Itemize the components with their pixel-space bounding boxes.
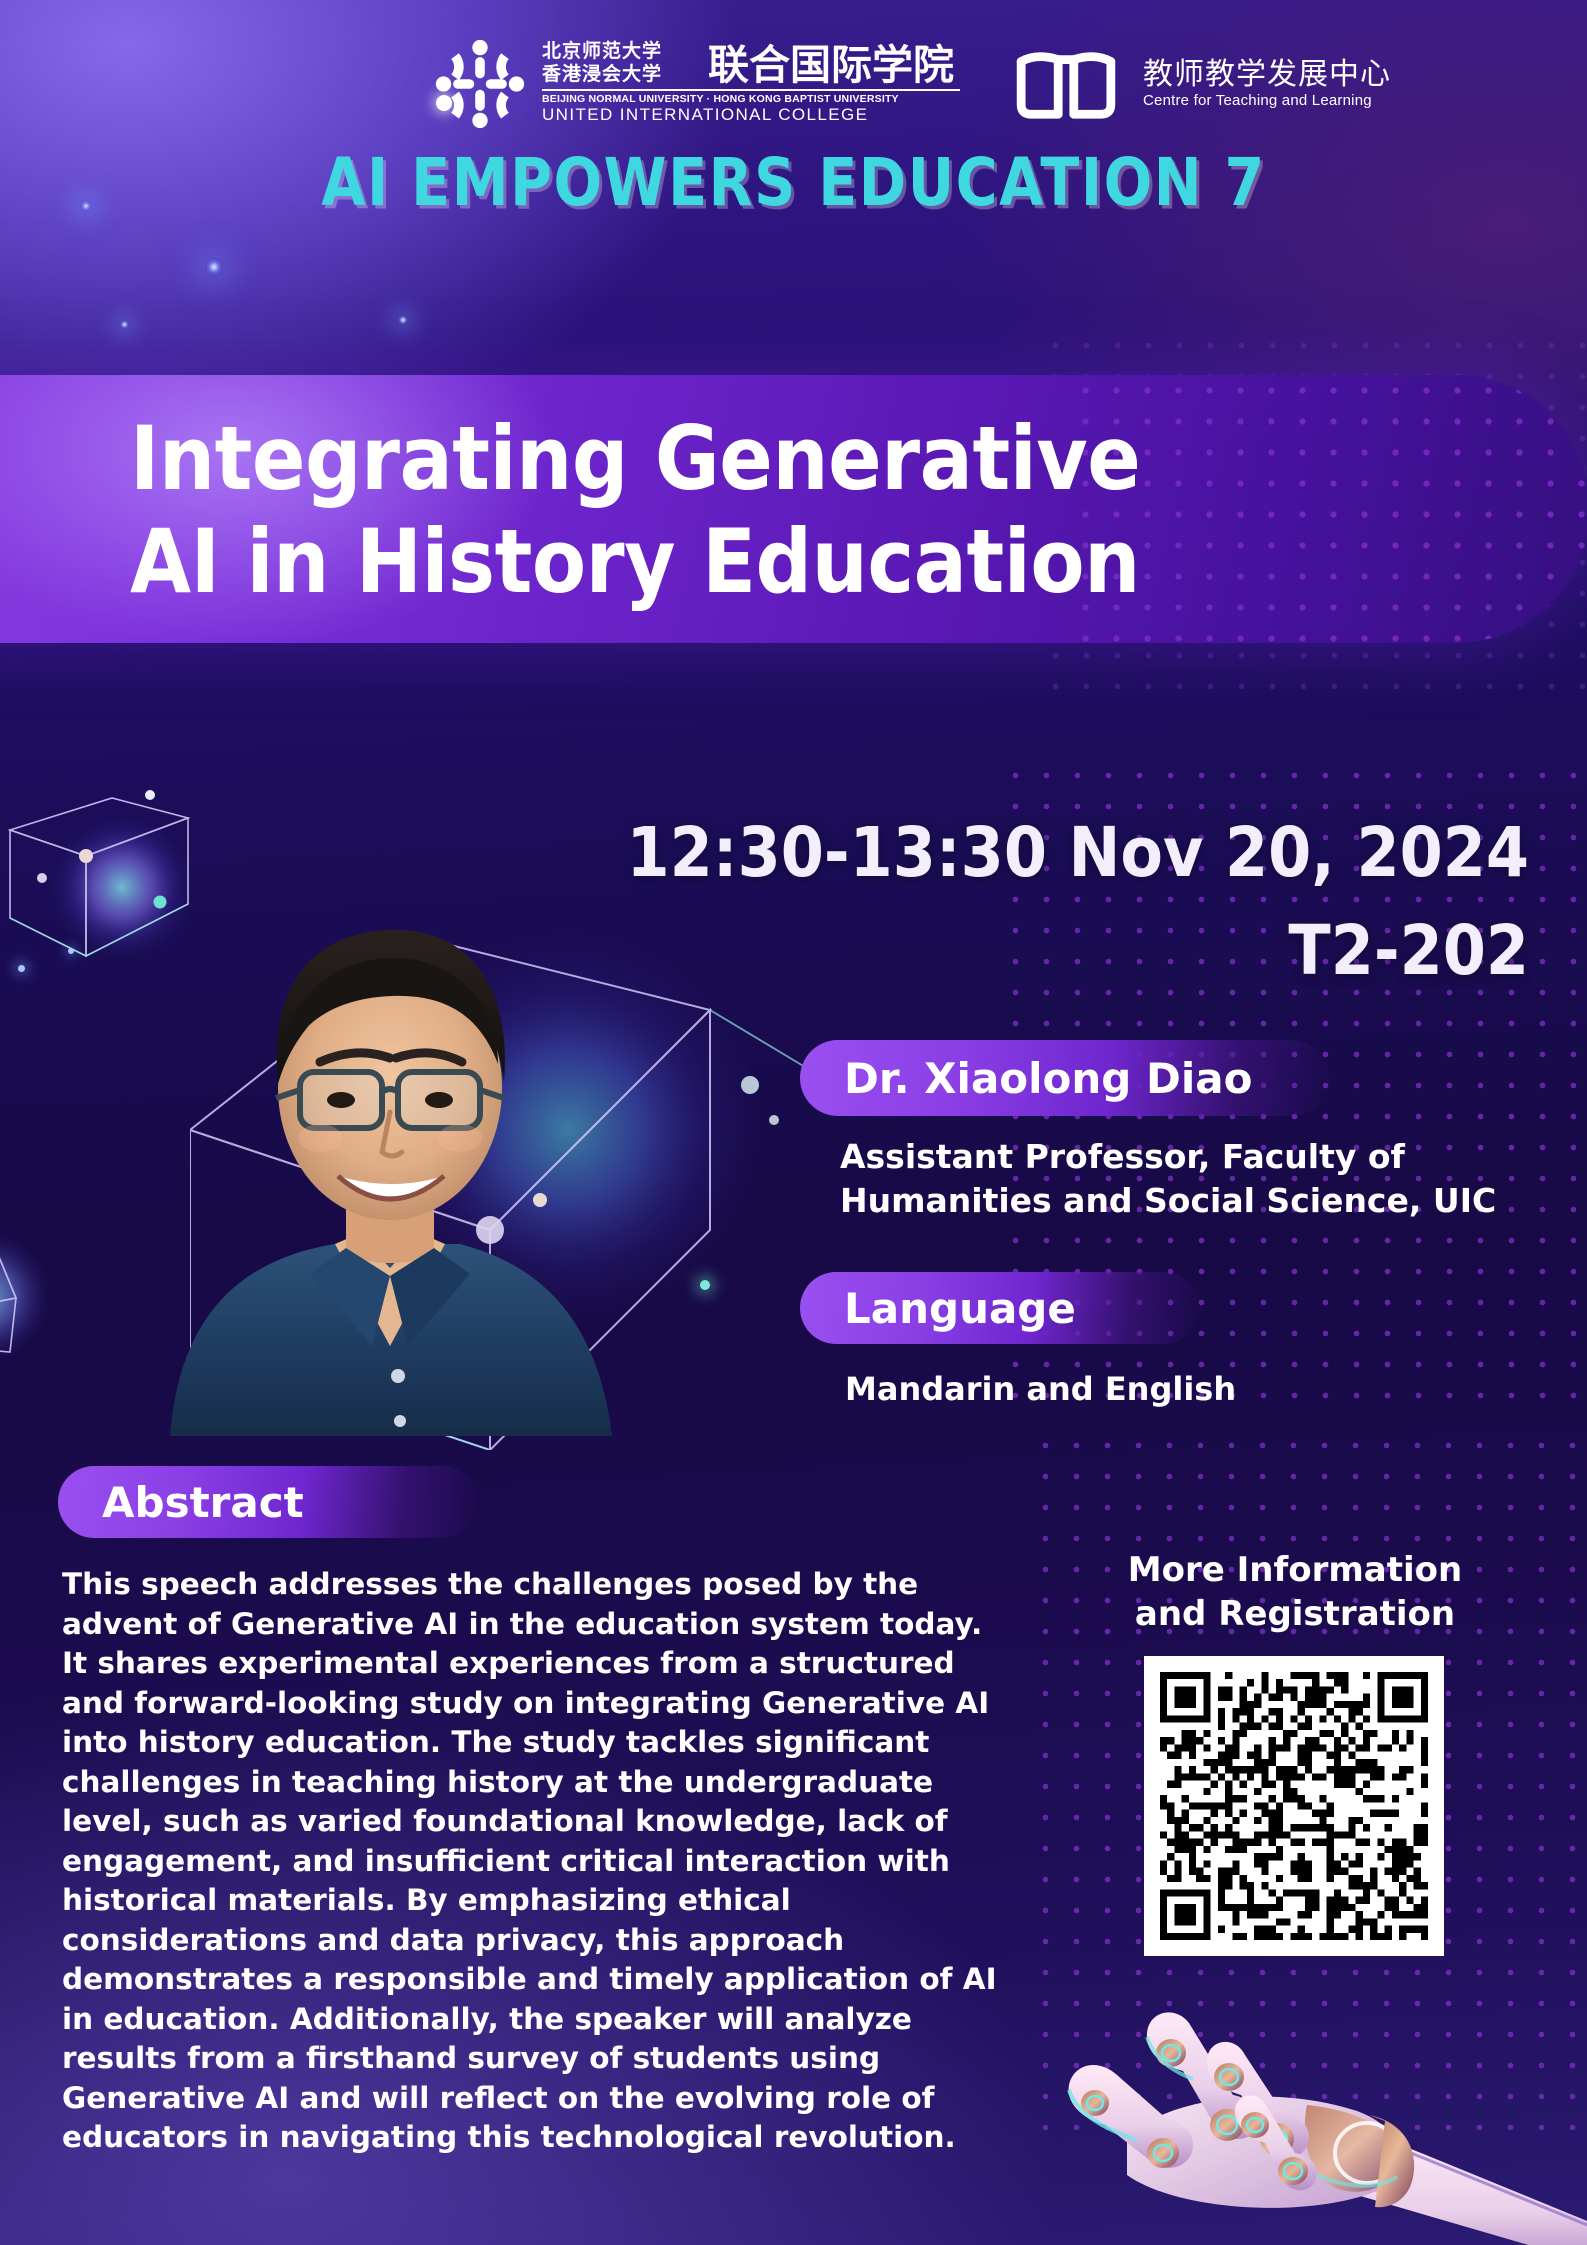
ctl-cn-label: 教师教学发展中心 xyxy=(1143,58,1391,92)
uic-divider xyxy=(542,89,960,91)
open-book-ctl-icon xyxy=(1007,44,1125,122)
uic-en-line2: UNITED INTERNATIONAL COLLEGE xyxy=(542,105,960,125)
event-venue: T2-202 xyxy=(0,910,1529,990)
poster-canvas: 北京师范大学 联合国际学院 香港浸会大学 BEIJING NORMAL UNIV… xyxy=(0,0,1587,2245)
uic-cn-line1: 北京师范大学 xyxy=(542,40,662,63)
robot-hand-graphic xyxy=(977,1925,1587,2245)
qr-code-container[interactable] xyxy=(1144,1656,1444,1956)
header: 北京师范大学 联合国际学院 香港浸会大学 BEIJING NORMAL UNIV… xyxy=(0,22,1587,142)
abstract-body: This speech addresses the challenges pos… xyxy=(62,1565,1002,2158)
language-value: Mandarin and English xyxy=(845,1370,1236,1408)
ctl-logo: 教师教学发展中心 Centre for Teaching and Learnin… xyxy=(1007,44,1391,122)
event-datetime: 12:30-13:30 Nov 20, 2024 xyxy=(0,812,1529,892)
uic-en-line1: BEIJING NORMAL UNIVERSITY · HONG KONG BA… xyxy=(542,93,960,105)
title-line-1: Integrating Generative xyxy=(130,407,1530,510)
glow-dot xyxy=(120,320,129,329)
speaker-name-pill: Dr. Xiaolong Diao xyxy=(800,1040,1330,1116)
main-title-banner: Integrating Generative AI in History Edu… xyxy=(0,375,1587,643)
abstract-pill: Abstract xyxy=(58,1466,478,1538)
registration-title-line2: and Registration xyxy=(1055,1592,1535,1636)
language-pill: Language xyxy=(800,1272,1200,1344)
registration-title-line1: More Information xyxy=(1055,1548,1535,1592)
uic-snowflake-icon xyxy=(432,36,528,132)
uic-cn-line2: 香港浸会大学 xyxy=(542,63,662,86)
registration-title: More Information and Registration xyxy=(1055,1548,1535,1636)
glow-dot xyxy=(205,258,223,276)
ctl-en-label: Centre for Teaching and Learning xyxy=(1143,92,1391,109)
glow-dot xyxy=(398,315,408,325)
registration-qr-code[interactable] xyxy=(1160,1672,1428,1940)
series-title: AI EMPOWERS EDUCATION 7 xyxy=(0,145,1587,222)
uic-logo: 北京师范大学 联合国际学院 香港浸会大学 BEIJING NORMAL UNIV… xyxy=(432,36,960,132)
glow-dot xyxy=(700,1280,710,1290)
speaker-affiliation: Assistant Professor, Faculty of Humaniti… xyxy=(840,1135,1500,1223)
title-line-2: AI in History Education xyxy=(130,510,1530,613)
page-title: Integrating Generative AI in History Edu… xyxy=(130,407,1530,613)
uic-cn-big: 联合国际学院 xyxy=(708,44,954,86)
